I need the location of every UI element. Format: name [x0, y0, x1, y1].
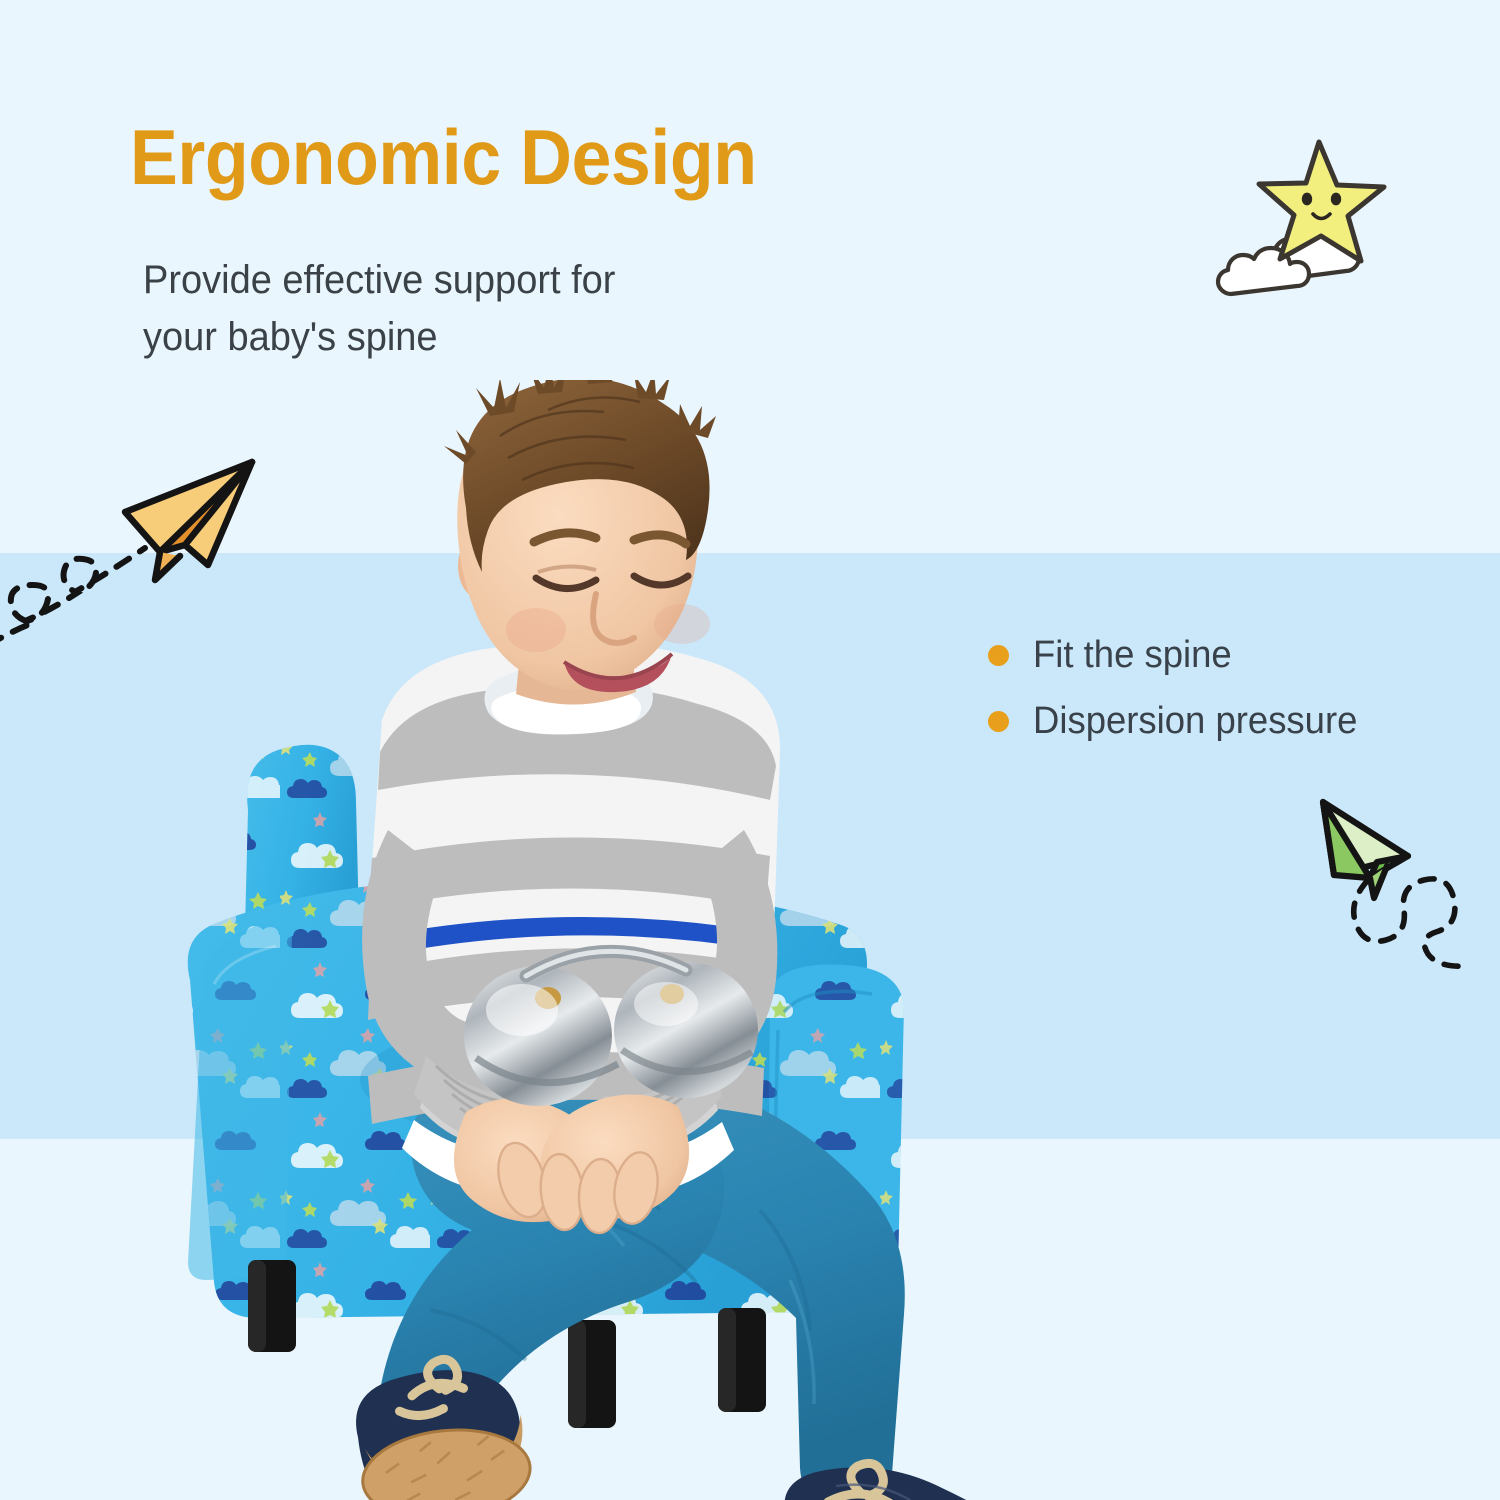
marketing-image-canvas: Ergonomic Design Provide effective suppo…: [0, 0, 1500, 1500]
product-photo: [130, 380, 1150, 1500]
paper-plane-green-icon: [1290, 780, 1500, 995]
star-cloud-icon: [1215, 128, 1425, 313]
subtitle-line-2: your baby's spine: [143, 309, 808, 366]
page-subtitle: Provide effective support for your baby'…: [143, 252, 808, 366]
page-title: Ergonomic Design: [130, 112, 757, 203]
subtitle-line-1: Provide effective support for: [143, 252, 808, 309]
